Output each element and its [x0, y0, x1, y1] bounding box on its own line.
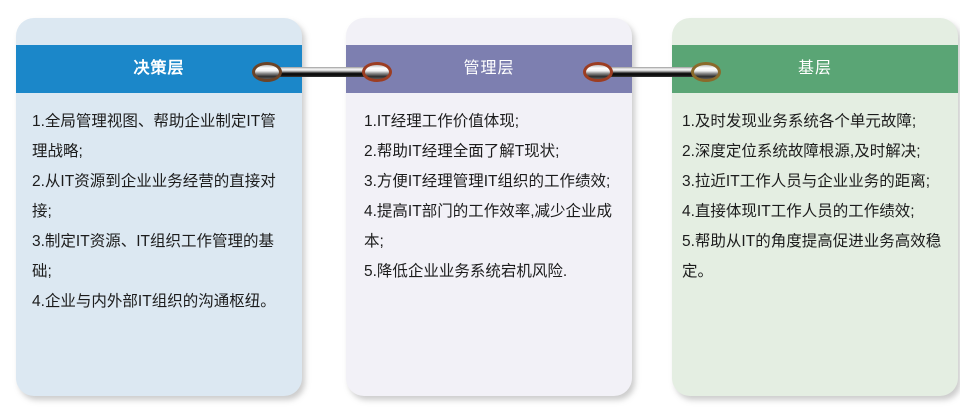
- list-item: 2.深度定位系统故障根源,及时解决;: [682, 137, 952, 167]
- list-item: 5.降低企业业务系统宕机风险.: [364, 257, 616, 287]
- list-item: 2.从IT资源到企业业务经营的直接对接;: [32, 167, 286, 227]
- connector-decision-management: [252, 62, 392, 82]
- connector-ring-left-icon: [583, 62, 613, 82]
- card-body-management-layer: 1.IT经理工作价值体现; 2.帮助IT经理全面了解T现状; 3.方便IT经理管…: [346, 93, 632, 396]
- connector-management-base: [583, 62, 721, 82]
- connector-bar-icon: [605, 67, 699, 77]
- list-item: 3.拉近IT工作人员与企业业务的距离;: [682, 167, 952, 197]
- card-body-base-layer: 1.及时发现业务系统各个单元故障; 2.深度定位系统故障根源,及时解决; 3.拉…: [672, 93, 958, 396]
- list-item: 3.方便IT经理管理IT组织的工作绩效;: [364, 167, 616, 197]
- list-item: 2.帮助IT经理全面了解T现状;: [364, 137, 616, 167]
- card-title-decision-layer: 决策层: [133, 61, 184, 77]
- list-item: 1.全局管理视图、帮助企业制定IT管理战略;: [32, 107, 286, 167]
- list-item: 5.帮助从IT的角度提高促进业务高效稳定。: [682, 227, 952, 287]
- list-item: 1.及时发现业务系统各个单元故障;: [682, 107, 952, 137]
- connector-ring-right-icon: [362, 62, 392, 82]
- list-item: 4.提高IT部门的工作效率,减少企业成本;: [364, 197, 616, 257]
- list-item: 4.直接体现IT工作人员的工作绩效;: [682, 197, 952, 227]
- list-item: 1.IT经理工作价值体现;: [364, 107, 616, 137]
- card-title-management-layer: 管理层: [463, 61, 514, 77]
- list-item: 4.企业与内外部IT组织的沟通枢纽。: [32, 287, 286, 317]
- connector-ring-left-icon: [252, 62, 282, 82]
- diagram-canvas: 决策层 1.全局管理视图、帮助企业制定IT管理战略; 2.从IT资源到企业业务经…: [0, 0, 960, 416]
- card-title-base-layer: 基层: [798, 61, 832, 77]
- list-item: 3.制定IT资源、IT组织工作管理的基础;: [32, 227, 286, 287]
- card-body-decision-layer: 1.全局管理视图、帮助企业制定IT管理战略; 2.从IT资源到企业业务经营的直接…: [16, 93, 302, 396]
- connector-ring-right-icon: [691, 62, 721, 82]
- connector-bar-icon: [274, 67, 370, 77]
